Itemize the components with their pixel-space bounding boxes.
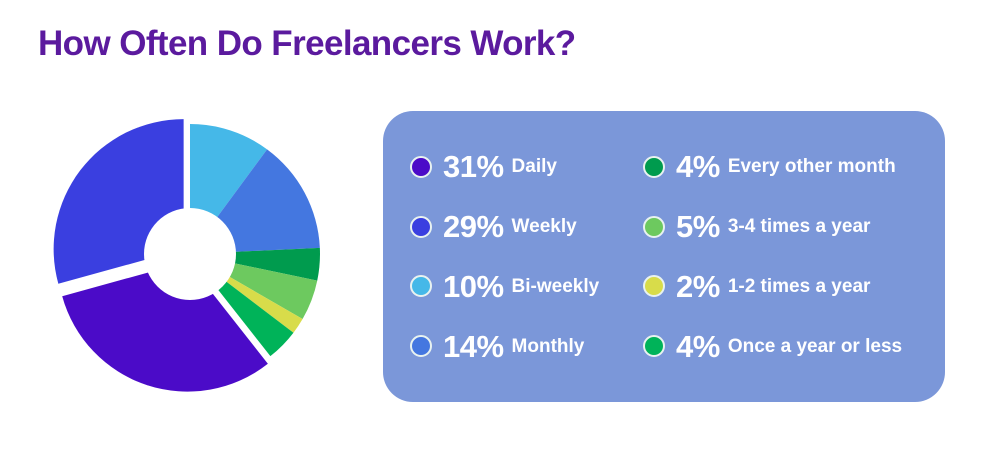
legend-label-every-other-month: Every other month bbox=[728, 157, 896, 176]
legend-percent-1-2-times-a-year: 2% bbox=[676, 271, 720, 302]
legend-dot-1-2-times-a-year bbox=[643, 275, 665, 297]
infographic-root: How Often Do Freelancers Work? 31% Daily… bbox=[0, 0, 1000, 458]
legend-dot-weekly bbox=[410, 216, 432, 238]
legend-label-weekly: Weekly bbox=[512, 217, 577, 236]
legend-percent-once-a-year-or-less: 4% bbox=[676, 331, 720, 362]
donut-chart-svg bbox=[42, 106, 338, 402]
legend-label-monthly: Monthly bbox=[512, 337, 585, 356]
legend-dot-daily bbox=[410, 156, 432, 178]
legend-panel: 31% Daily 4% Every other month 29% Weekl… bbox=[383, 111, 945, 402]
legend-item-bi-weekly[interactable]: 10% Bi-weekly bbox=[383, 257, 631, 317]
legend-percent-daily: 31% bbox=[443, 151, 504, 182]
legend-label-1-2-times-a-year: 1-2 times a year bbox=[728, 277, 871, 296]
legend-item-daily[interactable]: 31% Daily bbox=[383, 137, 631, 197]
donut-center-hole bbox=[144, 208, 236, 300]
legend-label-3-4-times-a-year: 3-4 times a year bbox=[728, 217, 871, 236]
legend-item-weekly[interactable]: 29% Weekly bbox=[383, 197, 631, 257]
legend-item-1-2-times-a-year[interactable]: 2% 1-2 times a year bbox=[631, 257, 945, 317]
legend-dot-every-other-month bbox=[643, 156, 665, 178]
legend-item-monthly[interactable]: 14% Monthly bbox=[383, 316, 631, 376]
legend-percent-weekly: 29% bbox=[443, 211, 504, 242]
legend-grid: 31% Daily 4% Every other month 29% Weekl… bbox=[383, 111, 945, 402]
legend-dot-3-4-times-a-year bbox=[643, 216, 665, 238]
donut-chart bbox=[42, 106, 338, 402]
legend-item-every-other-month[interactable]: 4% Every other month bbox=[631, 137, 945, 197]
legend-item-once-a-year-or-less[interactable]: 4% Once a year or less bbox=[631, 316, 945, 376]
legend-label-daily: Daily bbox=[512, 157, 557, 176]
legend-percent-monthly: 14% bbox=[443, 331, 504, 362]
legend-percent-bi-weekly: 10% bbox=[443, 271, 504, 302]
legend-dot-once-a-year-or-less bbox=[643, 335, 665, 357]
legend-percent-every-other-month: 4% bbox=[676, 151, 720, 182]
legend-dot-bi-weekly bbox=[410, 275, 432, 297]
legend-item-3-4-times-a-year[interactable]: 5% 3-4 times a year bbox=[631, 197, 945, 257]
legend-label-once-a-year-or-less: Once a year or less bbox=[728, 337, 902, 356]
legend-percent-3-4-times-a-year: 5% bbox=[676, 211, 720, 242]
legend-label-bi-weekly: Bi-weekly bbox=[512, 277, 600, 296]
page-title: How Often Do Freelancers Work? bbox=[38, 26, 576, 61]
legend-dot-monthly bbox=[410, 335, 432, 357]
